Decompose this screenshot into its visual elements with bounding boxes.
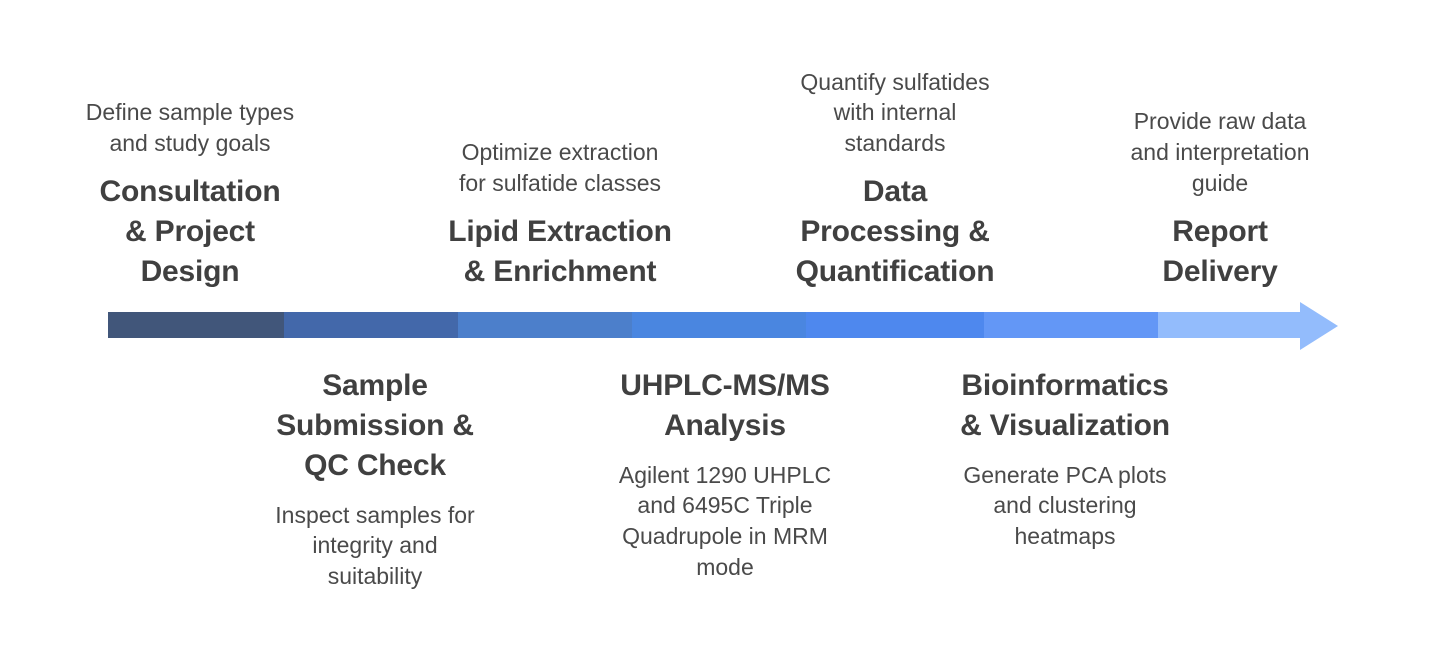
step-2-description: Inspect samples for integrity and suitab…	[225, 500, 525, 592]
step-7-title: Report Delivery	[1060, 212, 1380, 292]
step-4-description: Agilent 1290 UHPLC and 6495C Triple Quad…	[560, 460, 890, 582]
step-report-delivery: Provide raw data and interpretation guid…	[1060, 24, 1380, 292]
step-7-description: Provide raw data and interpretation guid…	[1060, 106, 1380, 198]
arrowhead	[1300, 302, 1338, 350]
step-uhplc-msms-analysis: UHPLC-MS/MS Analysis Agilent 1290 UHPLC …	[560, 366, 890, 616]
arrow-segment-1	[108, 312, 284, 338]
step-1-description: Define sample types and study goals	[40, 97, 340, 158]
arrow-segment-5	[806, 312, 984, 338]
arrow-segment-4	[632, 312, 806, 338]
step-6-description: Generate PCA plots and clustering heatma…	[895, 460, 1235, 552]
step-consultation-project-design: Define sample types and study goals Cons…	[40, 24, 340, 292]
workflow-diagram: Define sample types and study goals Cons…	[0, 0, 1445, 650]
step-5-description: Quantify sulfatides with internal standa…	[745, 67, 1045, 159]
step-3-description: Optimize extraction for sulfatide classe…	[400, 137, 720, 198]
step-bioinformatics-visualization: Bioinformatics & Visualization Generate …	[895, 366, 1235, 616]
step-2-title: Sample Submission & QC Check	[225, 366, 525, 486]
arrow-segment-6	[984, 312, 1158, 338]
step-3-title: Lipid Extraction & Enrichment	[400, 212, 720, 292]
step-lipid-extraction-enrichment: Optimize extraction for sulfatide classe…	[400, 24, 720, 292]
process-arrow-timeline	[0, 296, 1445, 356]
step-4-title: UHPLC-MS/MS Analysis	[560, 366, 890, 446]
arrow-segment-2	[284, 312, 458, 338]
step-1-title: Consultation & Project Design	[40, 172, 340, 292]
step-6-title: Bioinformatics & Visualization	[895, 366, 1235, 446]
arrow-segment-3	[458, 312, 632, 338]
arrow-segments	[108, 312, 1302, 338]
step-5-title: Data Processing & Quantification	[745, 172, 1045, 292]
step-data-processing-quantification: Quantify sulfatides with internal standa…	[745, 8, 1045, 292]
step-sample-submission-qc-check: Sample Submission & QC Check Inspect sam…	[225, 366, 525, 616]
arrow-segment-7	[1158, 312, 1302, 338]
